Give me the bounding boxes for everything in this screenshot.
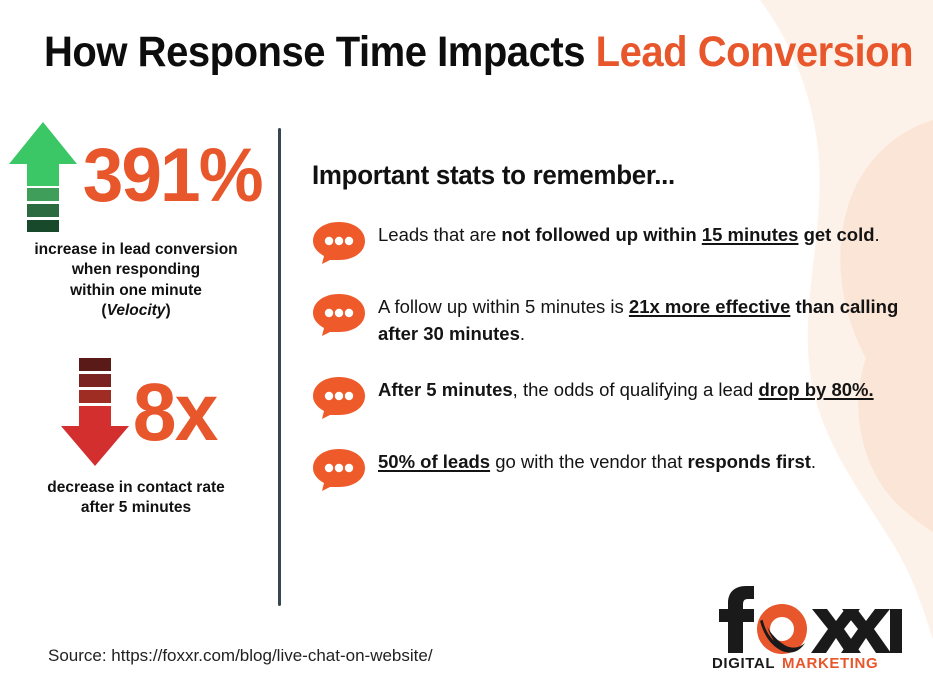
stats-bullet-list: Leads that are not followed up within 15…	[312, 219, 902, 492]
caption-line: within one minute	[0, 281, 272, 301]
stats-bullet-text: After 5 minutes, the odds of qualifying …	[378, 374, 874, 403]
stat-value-increase: 391%	[83, 140, 262, 212]
down-arrow-icon	[59, 358, 131, 468]
stats-bullet-item: A follow up within 5 minutes is 21x more…	[312, 291, 902, 348]
speech-bubble-icon	[312, 221, 366, 265]
up-arrow-icon	[7, 120, 79, 232]
bullet-text-run: go with the vendor that	[490, 451, 687, 472]
column-divider	[278, 128, 281, 606]
bullet-text-run: responds first	[688, 451, 811, 472]
stat-block-decrease: 8x decrease in contact rate after 5 minu…	[0, 358, 272, 519]
caption-line: after 5 minutes	[0, 498, 272, 518]
speech-bubble-icon	[312, 376, 366, 420]
stat-value-decrease: 8x	[133, 374, 217, 452]
source-text: Source: https://foxxr.com/blog/live-chat…	[48, 646, 433, 666]
speech-bubble-icon	[312, 448, 366, 492]
bullet-text-run: get cold	[798, 224, 874, 245]
page-title-main: How Response Time Impacts	[44, 28, 596, 76]
caption-line-velocity: (Velocity)	[0, 301, 272, 321]
foxxr-logo: DIGITAL MARKETING	[706, 583, 902, 671]
stats-bullet-item: Leads that are not followed up within 15…	[312, 219, 902, 265]
bullet-text-run: drop by 80%.	[758, 379, 873, 400]
caption-line: increase in lead conversion	[0, 240, 272, 260]
bullet-text-run: 50% of leads	[378, 451, 490, 472]
paren-close: )	[165, 302, 170, 319]
speech-bubble-icon	[312, 293, 366, 337]
stat-block-increase: 391% increase in lead conversion when re…	[0, 120, 272, 322]
bullet-text-run: , the odds of qualifying a lead	[513, 379, 759, 400]
logo-tagline-digital: DIGITAL	[712, 655, 775, 671]
left-stats-column: 391% increase in lead conversion when re…	[0, 120, 272, 519]
right-stats-column: Important stats to remember... Leads tha…	[312, 160, 902, 518]
page-title-accent: Lead Conversion	[596, 28, 913, 76]
bullet-text-run: A follow up within 5 minutes is	[378, 296, 629, 317]
caption-line: decrease in contact rate	[0, 478, 272, 498]
stats-bullet-item: 50% of leads go with the vendor that res…	[312, 446, 902, 492]
stat-caption-increase: increase in lead conversion when respond…	[0, 240, 272, 322]
stats-bullet-item: After 5 minutes, the odds of qualifying …	[312, 374, 902, 420]
logo-tagline-marketing: MARKETING	[782, 655, 878, 671]
bullet-text-run: 15 minutes	[702, 224, 799, 245]
stats-bullet-text: 50% of leads go with the vendor that res…	[378, 446, 816, 475]
infographic-canvas: How Response Time Impacts Lead Conversio…	[0, 0, 933, 700]
bullet-text-run: 21x more effective	[629, 296, 790, 317]
stats-bullet-text: A follow up within 5 minutes is 21x more…	[378, 291, 902, 348]
page-title: How Response Time Impacts Lead Conversio…	[44, 30, 844, 75]
bullet-text-run: Leads that are	[378, 224, 501, 245]
bullet-text-run: After 5 minutes	[378, 379, 513, 400]
velocity-word: Velocity	[107, 302, 166, 319]
bullet-text-run: .	[811, 451, 816, 472]
caption-line: when responding	[0, 260, 272, 280]
bullet-text-run: .	[520, 323, 525, 344]
stats-bullet-text: Leads that are not followed up within 15…	[378, 219, 880, 248]
bullet-text-run: .	[875, 224, 880, 245]
stat-caption-decrease: decrease in contact rate after 5 minutes	[0, 478, 272, 519]
stats-heading: Important stats to remember...	[312, 160, 878, 191]
bullet-text-run: not followed up within	[501, 224, 701, 245]
